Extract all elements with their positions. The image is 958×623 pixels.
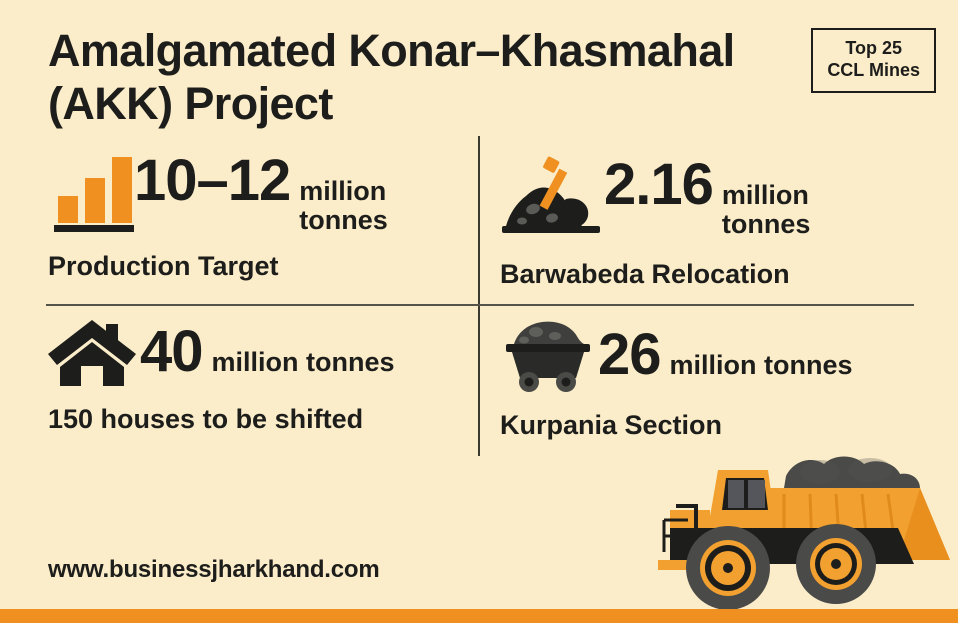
badge-line-2: CCL Mines xyxy=(827,60,920,82)
house-icon xyxy=(48,316,140,388)
stat-value: 26 xyxy=(598,326,661,384)
stat-value-group: 10–12 million tonnes xyxy=(134,152,423,233)
mining-dump-truck-illustration xyxy=(598,432,958,612)
infographic-poster: Amalgamated Konar–Khasmahal (AKK) Projec… xyxy=(0,0,958,623)
bottom-accent-bar xyxy=(0,609,958,623)
stat-card-kurpania-section: 26 million tonnes Kurpania Section xyxy=(500,316,940,441)
stat-row: 10–12 million tonnes xyxy=(48,152,468,234)
stat-value-group: 2.16 million tonnes xyxy=(604,156,846,237)
stat-caption: Barwabeda Relocation xyxy=(500,259,930,290)
stat-caption: 150 houses to be shifted xyxy=(48,404,468,435)
vertical-divider xyxy=(478,136,480,456)
title-line-1: Amalgamated Konar–Khasmahal xyxy=(48,24,838,77)
title-line-2: (AKK) Project xyxy=(48,77,838,130)
top-rank-badge: Top 25 CCL Mines xyxy=(811,28,936,93)
mine-cart-icon xyxy=(500,316,598,394)
stat-value-group: 40 million tonnes xyxy=(140,323,395,381)
stat-row: 40 million tonnes xyxy=(48,316,468,388)
stat-unit: million tonnes xyxy=(670,351,853,379)
page-title: Amalgamated Konar–Khasmahal (AKK) Projec… xyxy=(48,24,838,130)
stat-caption: Production Target xyxy=(48,251,468,282)
stat-value: 2.16 xyxy=(604,156,713,214)
website-url: www.businessjharkhand.com xyxy=(48,556,380,584)
stat-card-houses-shifted: 40 million tonnes 150 houses to be shift… xyxy=(48,316,468,435)
stat-value: 10–12 xyxy=(134,152,290,210)
badge-line-1: Top 25 xyxy=(827,38,920,60)
horizontal-divider xyxy=(46,304,914,306)
stat-row: 26 million tonnes xyxy=(500,316,940,394)
stat-value-group: 26 million tonnes xyxy=(598,326,853,384)
stat-row: 2.16 million tonnes xyxy=(500,152,930,242)
stat-unit: million tonnes xyxy=(212,348,395,376)
stat-card-barwabeda-relocation: 2.16 million tonnes Barwabeda Relocation xyxy=(500,152,930,290)
coal-pile-shovel-icon xyxy=(500,152,604,242)
stat-card-production-target: 10–12 million tonnes Production Target xyxy=(48,152,468,282)
bar-chart-icon xyxy=(48,152,134,234)
stat-unit: million tonnes xyxy=(299,177,423,233)
stat-value: 40 xyxy=(140,323,203,381)
stat-unit: million tonnes xyxy=(722,181,846,237)
